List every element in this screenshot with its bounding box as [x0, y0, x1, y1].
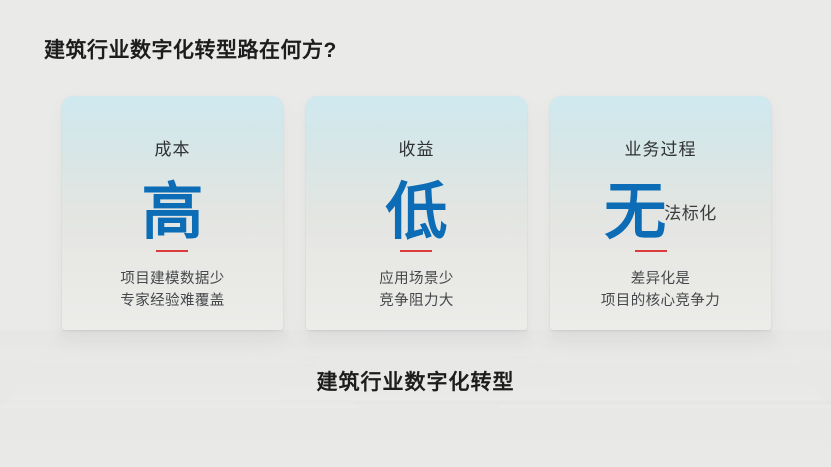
card-desc-line-2: 项目的核心竞争力 [560, 290, 761, 312]
card-description: 项目建模数据少 专家经验难覆盖 [72, 268, 273, 312]
cards-row: 成本 高 项目建模数据少 专家经验难覆盖 收益 低 应 [62, 96, 771, 330]
card-label: 成本 [62, 140, 283, 160]
card-keyword-area: 无 法标化 [550, 180, 771, 256]
bottom-caption: 建筑行业数字化转型 [0, 366, 831, 396]
card-description: 差异化是 项目的核心竞争力 [560, 268, 761, 312]
card-revenue[interactable]: 收益 低 应用场景少 竞争阻力大 [306, 96, 527, 330]
card-desc-line-1: 应用场景少 [316, 268, 517, 290]
card-keyword: 无 [604, 180, 666, 246]
card-keyword-area: 高 [62, 180, 283, 256]
card-keyword: 高 [141, 180, 203, 246]
card-business-process[interactable]: 业务过程 无 法标化 差异化是 项目的核心竞争力 [550, 96, 771, 330]
slide-canvas: 建筑行业数字化转型路在何方? 成本 高 项目建模数据少 专家经验难覆盖 收益 低 [0, 0, 831, 467]
card-keyword-area: 低 [306, 180, 527, 256]
card-cost[interactable]: 成本 高 项目建模数据少 专家经验难覆盖 [62, 96, 283, 330]
card-desc-line-1: 差异化是 [560, 268, 761, 290]
card-keyword: 低 [385, 180, 447, 246]
card-label: 业务过程 [550, 140, 771, 160]
keyword-underline-accent [635, 250, 667, 252]
card-description: 应用场景少 竞争阻力大 [316, 268, 517, 312]
card-keyword-suffix: 法标化 [664, 204, 717, 224]
card-desc-line-2: 专家经验难覆盖 [72, 290, 273, 312]
card-label: 收益 [306, 140, 527, 160]
card-desc-line-2: 竞争阻力大 [316, 290, 517, 312]
card-desc-line-1: 项目建模数据少 [72, 268, 273, 290]
keyword-underline-accent [156, 250, 188, 252]
page-title: 建筑行业数字化转型路在何方? [44, 34, 337, 64]
keyword-underline-accent [400, 250, 432, 252]
